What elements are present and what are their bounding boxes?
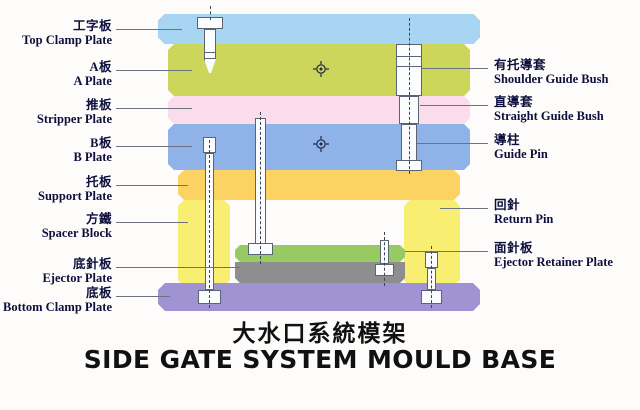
leader-a-plate xyxy=(116,70,192,71)
leader-guide-pin xyxy=(417,143,488,144)
label-guide-pin-cn: 導柱 xyxy=(494,133,640,147)
guide-pin-centerline xyxy=(409,18,410,174)
label-support-plate-en: Support Plate xyxy=(0,189,112,203)
sprue-centerline xyxy=(210,6,211,20)
label-straight-guide-bush-en: Straight Guide Bush xyxy=(494,109,640,123)
return-pin-left-centerline xyxy=(209,140,210,308)
label-ejector-plate: 底針板 Ejector Plate xyxy=(0,257,112,285)
hole-center-target-icon-b-plate xyxy=(313,136,329,152)
title-chinese: 大水口系統模架 xyxy=(0,314,640,348)
ejector-pin-inner-centerline xyxy=(384,232,385,286)
label-support-plate-cn: 托板 xyxy=(0,175,112,189)
title-english: SIDE GATE SYSTEM MOULD BASE xyxy=(0,345,640,374)
sprue-bushing-step xyxy=(204,52,216,53)
leader-support-plate xyxy=(116,185,188,186)
diagram-canvas: 工字板 Top Clamp Plate A板 A Plate 推板 Stripp… xyxy=(0,0,640,410)
label-ejector-retainer-plate-en: Ejector Retainer Plate xyxy=(494,255,640,269)
label-bottom-clamp-plate-cn: 底板 xyxy=(0,286,112,300)
label-guide-pin-en: Guide Pin xyxy=(494,147,640,161)
leader-return-pin xyxy=(440,208,488,209)
label-return-pin-en: Return Pin xyxy=(494,212,640,226)
label-spacer-block: 方鐵 Spacer Block xyxy=(0,212,112,240)
label-return-pin-cn: 回針 xyxy=(494,198,640,212)
label-shoulder-guide-bush-en: Shoulder Guide Bush xyxy=(494,72,640,86)
label-top-clamp-plate-cn: 工字板 xyxy=(0,19,112,33)
label-a-plate: A板 A Plate xyxy=(0,60,112,88)
label-bottom-clamp-plate-en: Bottom Clamp Plate xyxy=(0,300,112,314)
leader-ejector-plate xyxy=(116,267,240,268)
label-ejector-plate-cn: 底針板 xyxy=(0,257,112,271)
label-shoulder-guide-bush: 有托導套 Shoulder Guide Bush xyxy=(494,58,640,86)
leader-top-clamp-plate xyxy=(116,29,182,30)
label-straight-guide-bush: 直導套 Straight Guide Bush xyxy=(494,95,640,123)
center-sleeve-centerline xyxy=(260,112,261,264)
label-ejector-retainer-plate-cn: 面針板 xyxy=(494,241,640,255)
label-support-plate: 托板 Support Plate xyxy=(0,175,112,203)
return-pin-right-centerline xyxy=(431,246,432,308)
label-top-clamp-plate-en: Top Clamp Plate xyxy=(0,33,112,47)
part-stripper-plate xyxy=(168,96,470,124)
label-a-plate-en: A Plate xyxy=(0,74,112,88)
label-ejector-plate-en: Ejector Plate xyxy=(0,271,112,285)
label-stripper-plate: 推板 Stripper Plate xyxy=(0,98,112,126)
leader-straight-guide-bush xyxy=(420,105,488,106)
leader-bottom-clamp-plate xyxy=(116,296,170,297)
part-support-plate xyxy=(178,170,460,200)
leader-ejector-retainer-plate xyxy=(405,251,488,252)
leader-shoulder-guide-bush xyxy=(422,68,488,69)
part-spacer-block-left xyxy=(178,200,230,286)
label-bottom-clamp-plate: 底板 Bottom Clamp Plate xyxy=(0,286,112,314)
label-b-plate-cn: B板 xyxy=(0,136,112,150)
label-shoulder-guide-bush-cn: 有托導套 xyxy=(494,58,640,72)
part-sprue-bushing-body xyxy=(204,29,216,59)
label-spacer-block-cn: 方鐵 xyxy=(0,212,112,226)
leader-b-plate xyxy=(116,146,192,147)
leader-stripper-plate xyxy=(116,108,192,109)
label-stripper-plate-cn: 推板 xyxy=(0,98,112,112)
label-a-plate-cn: A板 xyxy=(0,60,112,74)
label-guide-pin: 導柱 Guide Pin xyxy=(494,133,640,161)
label-straight-guide-bush-cn: 直導套 xyxy=(494,95,640,109)
label-return-pin: 回針 Return Pin xyxy=(494,198,640,226)
label-ejector-retainer-plate: 面針板 Ejector Retainer Plate xyxy=(494,241,640,269)
label-spacer-block-en: Spacer Block xyxy=(0,226,112,240)
label-stripper-plate-en: Stripper Plate xyxy=(0,112,112,126)
hole-center-target-icon-a-plate xyxy=(313,61,329,77)
label-b-plate: B板 B Plate xyxy=(0,136,112,164)
label-top-clamp-plate: 工字板 Top Clamp Plate xyxy=(0,19,112,47)
label-b-plate-en: B Plate xyxy=(0,150,112,164)
leader-spacer-block xyxy=(116,222,188,223)
